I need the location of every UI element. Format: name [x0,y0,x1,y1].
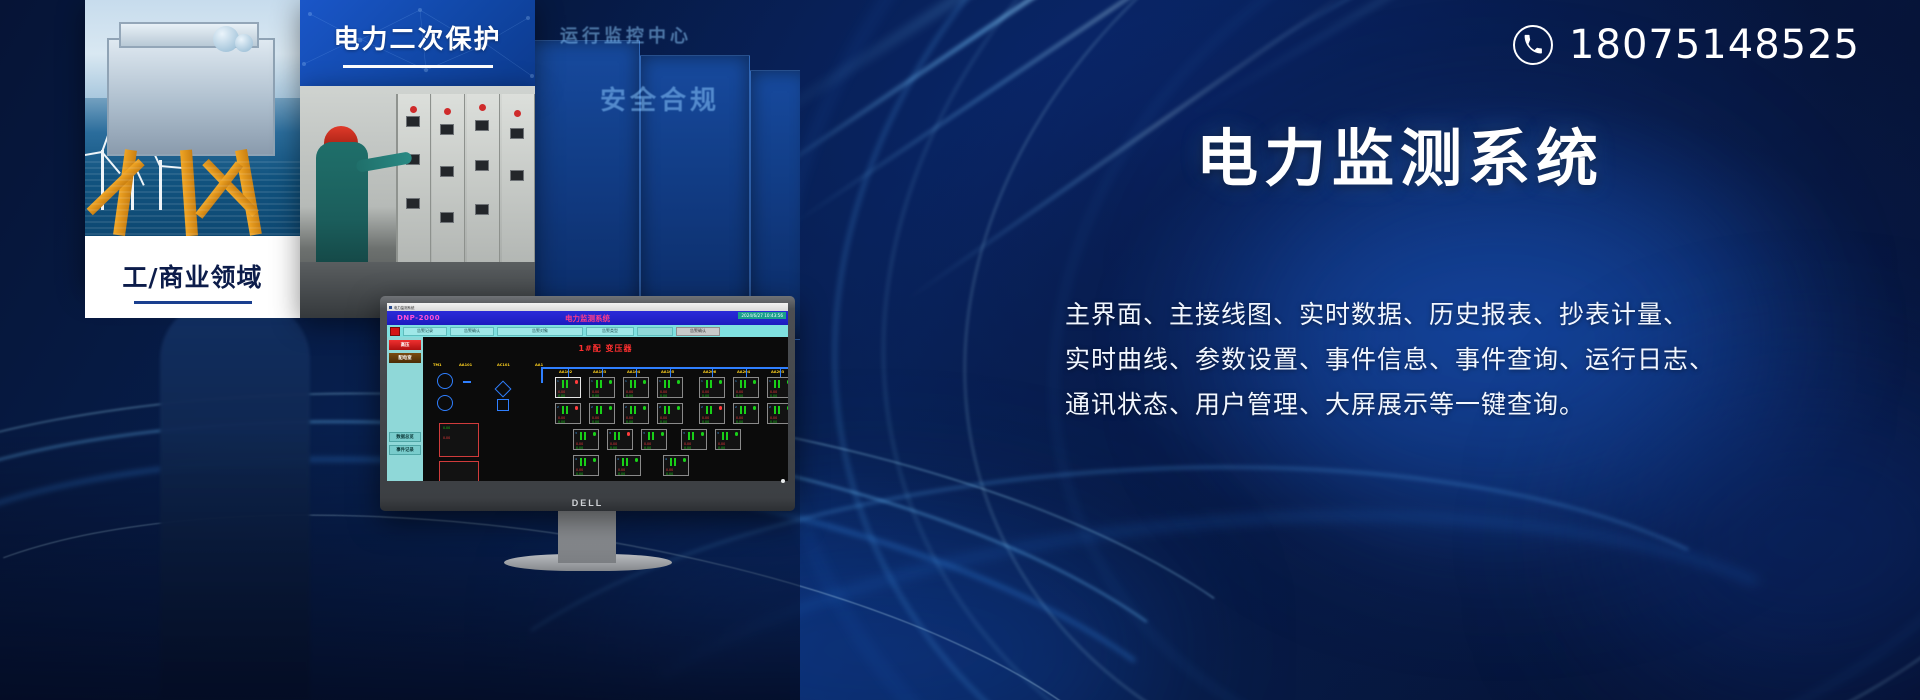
bay-cell[interactable]: 2 0.00 0.00 [657,403,683,424]
industrial-commercial-label: 工/商业领域 [122,258,262,294]
transformer-winding-icon [437,373,453,389]
bay-cell[interactable]: 1 0.00 0.00 [699,377,725,398]
description-line-1: 主界面、主接线图、实时数据、历史报表、抄表计量、 [1065,292,1775,337]
scada-toolbar[interactable]: 告警记录 告警确认 告警对象 告警类型 告警确认 [387,325,788,337]
description-line-3: 通讯状态、用户管理、大屏展示等一键查询。 [1065,382,1775,427]
phone-icon [1513,25,1553,65]
secondary-protection-label: 电力二次保护 [333,19,501,56]
toolbar-button-0[interactable]: 告警记录 [403,327,447,336]
contact-phone[interactable]: 18075148525 [1513,22,1860,68]
scada-clock: 2024/6/27 10:43:56 [738,312,786,319]
scada-header-title: 电力监测系统 [565,313,610,324]
sidebar-item-distribution-room[interactable]: 配电室 [389,353,421,363]
window-icon [389,306,392,309]
feeder-tag-1: AA103 [593,370,606,374]
tag-aa101: AA101 [459,363,472,367]
bay-cell[interactable]: 1 0.00 0.00 [733,377,759,398]
sidebar-item-data-overview[interactable]: 数据总览 [389,432,421,442]
monitor-mockup: 电力监测系统 DNP-2000 电力监测系统 2024/6/27 10:43:5… [380,296,795,546]
power-led-icon [781,479,785,483]
bay-cell[interactable]: 4 0.00 0.00 [615,455,641,476]
bay-cell[interactable]: 3 0.00 0.00 [573,429,599,450]
bay-cell[interactable]: 2 0.00 0.00 [699,403,725,424]
alarm-stop-button[interactable] [390,327,400,336]
feeder-tag-2: AA104 [627,370,640,374]
bay-cell[interactable]: 4 0.00 0.00 [663,455,689,476]
scada-body: 高压 配电室 数据总览 事件记录 1#配 变压器 TM [387,337,788,481]
scada-window-titlebar: 电力监测系统 [387,303,788,311]
single-line-diagram[interactable]: 1#配 变压器 TM1 AA101 AC101 AA1 [423,337,788,481]
tag-ac101: AC101 [497,363,510,367]
feeder-tag-3: AA105 [661,370,674,374]
sidebar-item-high-voltage[interactable]: 高压 [389,340,421,350]
toolbar-spacer [637,327,673,336]
toolbar-button-1[interactable]: 告警确认 [450,327,494,336]
toolbar-button-3[interactable]: 告警类型 [586,327,634,336]
bay-cell[interactable]: 2 0.00 0.00 [623,403,649,424]
bay-cell[interactable]: 2 0.00 0.00 [589,403,615,424]
scada-window-title: 电力监测系统 [394,305,414,310]
feature-description: 主界面、主接线图、实时数据、历史报表、抄表计量、 实时曲线、参数设置、事件信息、… [1065,292,1775,427]
label-underline [134,301,252,304]
bay-cell[interactable]: 2 0.00 0.00 [555,403,581,424]
left-equipment-box[interactable]: 0.00 0.00 [439,423,479,457]
diagram-title: 1#配 变压器 [578,343,632,354]
left-equipment-box[interactable] [439,461,479,481]
bay-cell[interactable]: 1 0.00 0.00 [657,377,683,398]
bay-cell[interactable]: 2 0.00 0.00 [767,403,788,424]
bay-cell[interactable]: 3 0.00 0.00 [641,429,667,450]
sidebar-item-event-log[interactable]: 事件记录 [389,445,421,455]
monitor-screen: 电力监测系统 DNP-2000 电力监测系统 2024/6/27 10:43:5… [387,303,788,481]
tag-tm1: TM1 [433,363,442,367]
transformer-winding-icon [437,395,453,411]
feeder-tag-4: AA206 [703,370,716,374]
electrician-switchgear-photo [300,86,535,318]
bay-cell[interactable]: 1 0.00 0.00 [623,377,649,398]
industrial-commercial-card[interactable]: 工/商业领域 [85,236,300,318]
page-title: 电力监测系统 [1196,108,1604,198]
feeder-tag-6: AA203 [771,370,784,374]
bay-cell[interactable]: 1 0.00 0.00 [767,377,788,398]
bay-cell[interactable]: 1 0.00 0.00 [589,377,615,398]
toolbar-button-4[interactable]: 告警确认 [676,327,720,336]
scada-product-code: DNP-2000 [397,314,440,322]
card-underline [343,65,493,68]
feeder-tag-0: AA102 [559,370,572,374]
phone-number: 18075148525 [1569,22,1860,68]
monitor-brand-logo: DELL [572,498,604,508]
sidebar-bottom-spacer [389,458,421,478]
promo-banner: 安全合规 运行监控中心 [0,0,1920,700]
bay-cell[interactable]: 3 0.00 0.00 [681,429,707,450]
monitor-bezel: 电力监测系统 DNP-2000 电力监测系统 2024/6/27 10:43:5… [380,296,795,511]
secondary-protection-card[interactable]: 电力二次保护 [300,0,535,86]
sidebar-spacer [389,366,421,429]
bay-cell[interactable]: 3 0.00 0.00 [715,429,741,450]
toolbar-button-2[interactable]: 告警对象 [497,327,583,336]
bay-cell[interactable]: 4 0.00 0.00 [573,455,599,476]
description-line-2: 实时曲线、参数设置、事件信息、事件查询、运行日志、 [1065,337,1775,382]
bay-cell[interactable]: 2 0.00 0.00 [733,403,759,424]
monitor-stand [558,509,616,563]
cell-value-green: 0.00 [558,394,565,398]
scada-header: DNP-2000 电力监测系统 2024/6/27 10:43:56 [387,311,788,325]
feeder-tag-5: AA204 [737,370,750,374]
bay-cell[interactable]: 1 0.00 0.00 [555,377,581,398]
bay-cell[interactable]: 3 0.00 0.00 [607,429,633,450]
scada-sidebar[interactable]: 高压 配电室 数据总览 事件记录 [387,337,423,481]
scada-application: 电力监测系统 DNP-2000 电力监测系统 2024/6/27 10:43:5… [387,303,788,481]
